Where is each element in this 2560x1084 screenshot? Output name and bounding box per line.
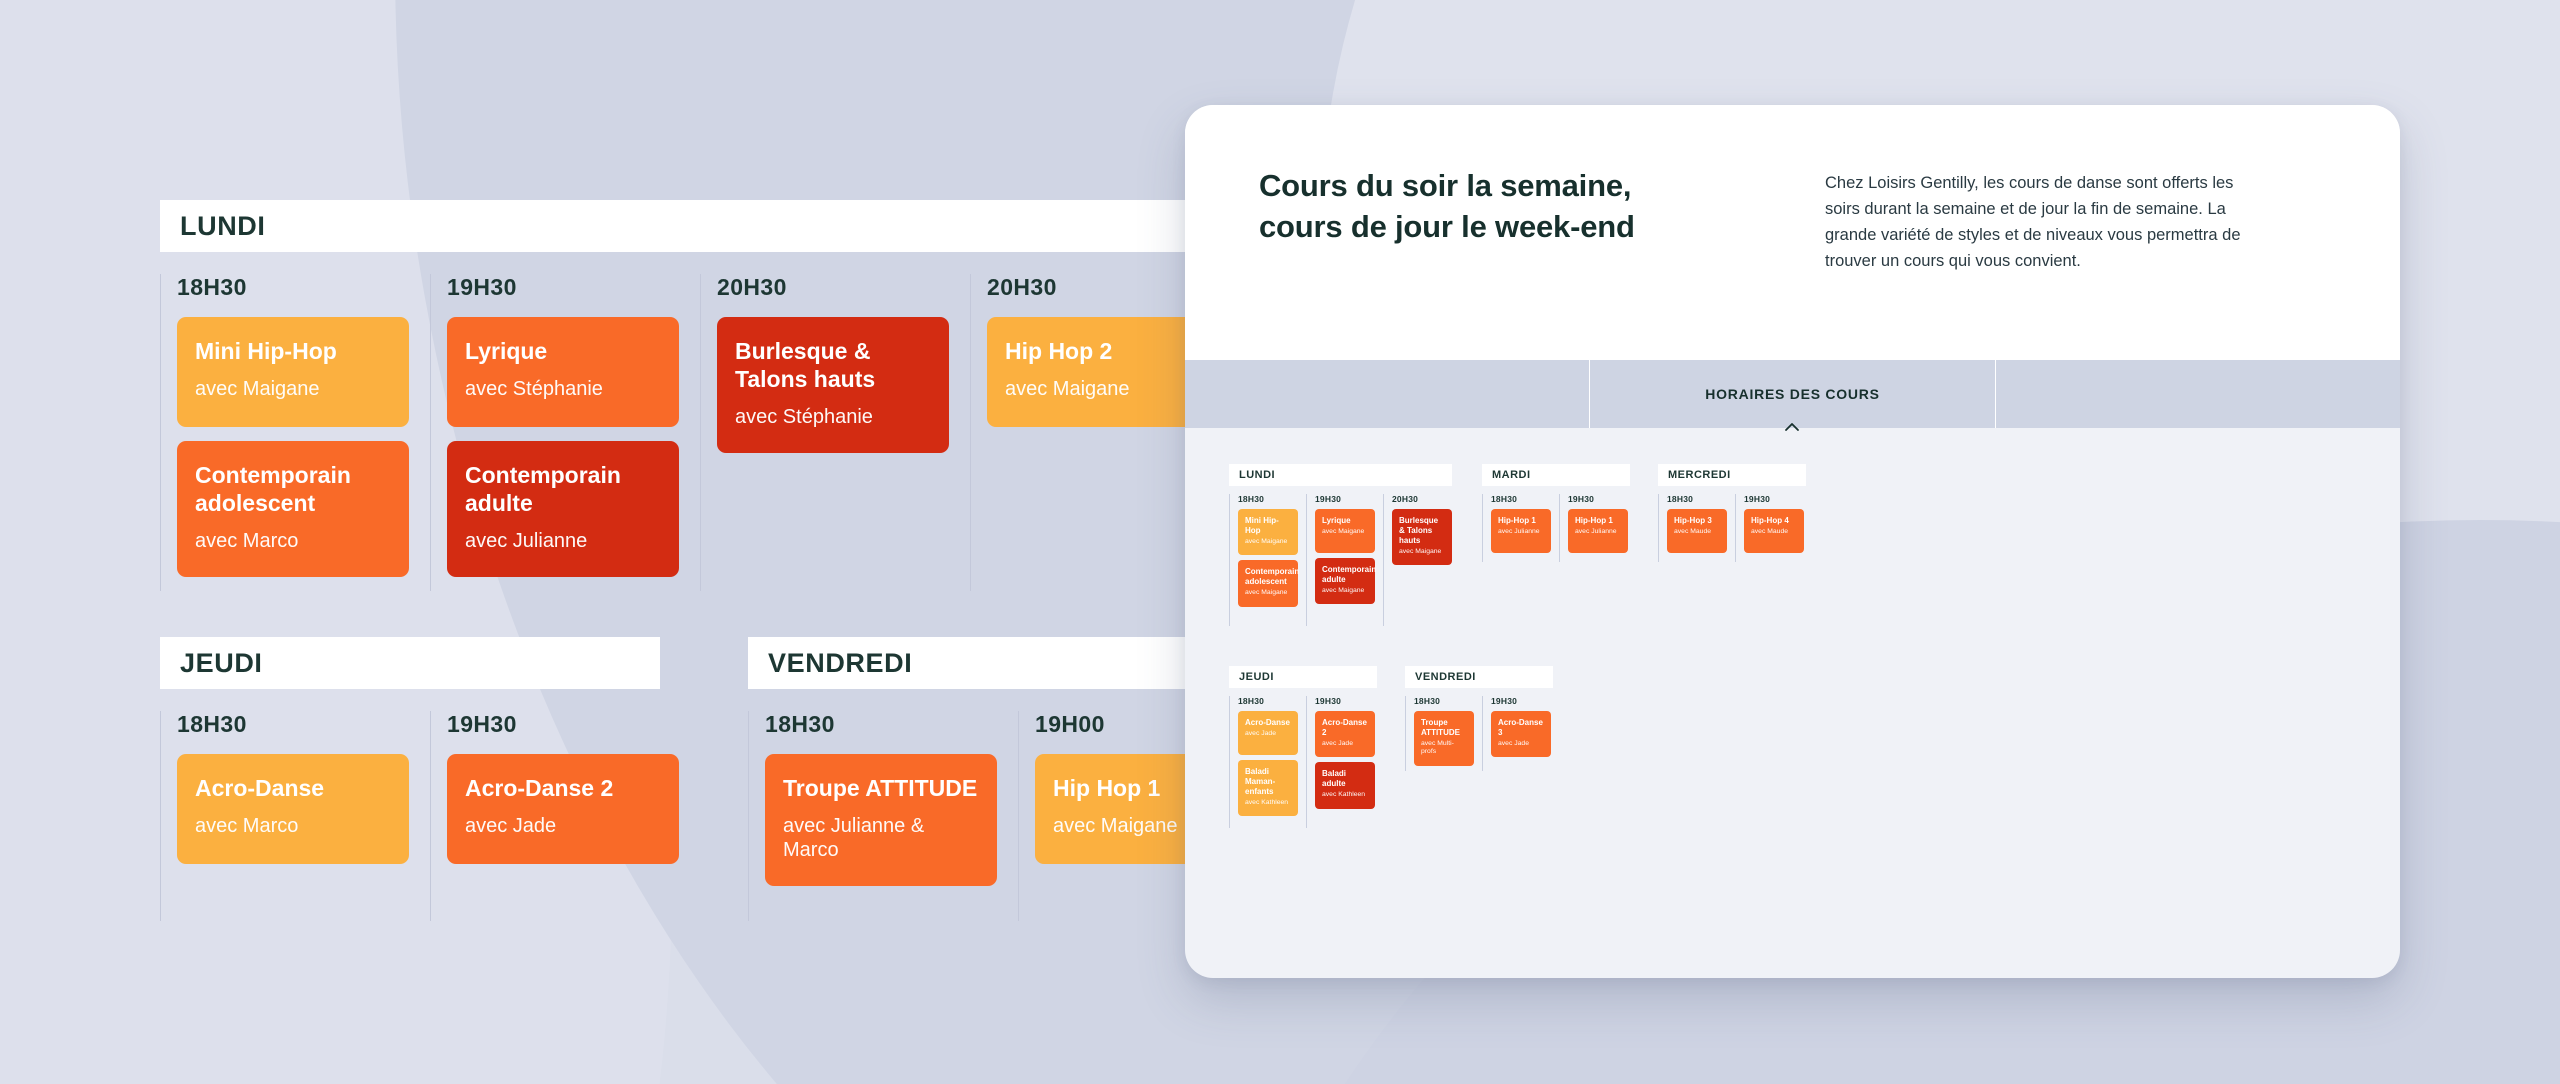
background-course-title: Lyrique <box>465 337 661 365</box>
panel-tabbar: HORAIRES DES COURS <box>1185 360 2400 428</box>
course-card[interactable]: Acro-Danseavec Jade <box>1238 711 1298 755</box>
time-label: 18H30 <box>1238 494 1297 504</box>
course-card[interactable]: Mini Hip-Hopavec Maigane <box>1238 509 1298 555</box>
background-course-title: Acro-Danse 2 <box>465 774 661 802</box>
background-time-column: 19H30Lyriqueavec StéphanieContemporain a… <box>430 274 700 591</box>
time-column: 20H30Burlesque & Talons hautsavec Maigan… <box>1383 494 1460 626</box>
background-course-title: Troupe ATTITUDE <box>783 774 979 802</box>
background-course-instructor: avec Marco <box>195 529 391 553</box>
panel-title: Cours du soir la semaine, cours de jour … <box>1259 165 1729 247</box>
background-course-title: Mini Hip-Hop <box>195 337 391 365</box>
background-time-column: 18H30Acro-Danseavec Marco <box>160 711 430 921</box>
panel-schedule-body: LUNDI18H30Mini Hip-Hopavec MaiganeContem… <box>1185 428 2400 828</box>
background-course-title: Acro-Danse <box>195 774 391 802</box>
time-column: 19H30Acro-Danse 2avec JadeBaladi adultea… <box>1306 696 1383 828</box>
time-label: 18H30 <box>1414 696 1473 706</box>
course-title: Troupe ATTITUDE <box>1421 718 1467 738</box>
course-card[interactable]: Contemporain adulteavec Maigane <box>1315 558 1375 604</box>
background-course-instructor: avec Stéphanie <box>735 405 931 429</box>
course-card[interactable]: Hip-Hop 4avec Maude <box>1744 509 1804 553</box>
course-instructor: avec Maude <box>1751 528 1797 536</box>
background-course-instructor: avec Stéphanie <box>465 377 661 401</box>
background-time-column: 19H30Acro-Danse 2avec Jade <box>430 711 700 921</box>
course-title: Lyrique <box>1322 516 1368 526</box>
background-time-label: 20H30 <box>717 274 950 301</box>
background-day-name: LUNDI <box>180 211 266 242</box>
background-time-label: 19H30 <box>447 711 680 738</box>
course-title: Contemporain adolescent <box>1245 567 1291 587</box>
panel-description: Chez Loisirs Gentilly, les cours de dans… <box>1825 171 2255 275</box>
course-schedule-panel: Cours du soir la semaine, cours de jour … <box>1185 105 2400 978</box>
course-title: Hip-Hop 1 <box>1575 516 1621 526</box>
time-label: 19H30 <box>1315 696 1374 706</box>
chevron-up-icon <box>1783 419 1801 437</box>
schedule-day-mercredi: MERCREDI18H30Hip-Hop 3avec Maude19H30Hip… <box>1658 464 1812 626</box>
background-time-column: 18H30Troupe ATTITUDEavec Julianne & Marc… <box>748 711 1018 921</box>
day-name: MERCREDI <box>1668 469 1731 481</box>
background-day-columns: 18H30Acro-Danseavec Marco19H30Acro-Danse… <box>160 711 700 921</box>
schedule-day-jeudi: JEUDI18H30Acro-Danseavec JadeBaladi Mama… <box>1229 666 1383 828</box>
time-column: 18H30Hip-Hop 3avec Maude <box>1658 494 1735 562</box>
background-course-card: Contemporain adulteavec Julianne <box>447 441 679 577</box>
course-title: Acro-Danse 2 <box>1322 718 1368 738</box>
tab-horaires-des-cours[interactable]: HORAIRES DES COURS <box>1590 360 1995 428</box>
day-columns: 18H30Mini Hip-Hopavec MaiganeContemporai… <box>1229 494 1460 626</box>
day-name: VENDREDI <box>1415 671 1476 683</box>
course-title: Baladi Maman-enfants <box>1245 767 1291 797</box>
day-header: JEUDI <box>1229 666 1377 688</box>
background-course-instructor: avec Julianne & Marco <box>783 814 979 862</box>
day-columns: 18H30Hip-Hop 3avec Maude19H30Hip-Hop 4av… <box>1658 494 1812 562</box>
background-course-instructor: avec Maigane <box>195 377 391 401</box>
course-instructor: avec Maude <box>1674 528 1720 536</box>
background-time-label: 18H30 <box>177 711 410 738</box>
time-column: 18H30Hip-Hop 1avec Julianne <box>1482 494 1559 562</box>
background-day-name: VENDREDI <box>768 648 912 679</box>
background-course-card: Acro-Danseavec Marco <box>177 754 409 864</box>
schedule-day-vendredi: VENDREDI18H30Troupe ATTITUDEavec Multi-p… <box>1405 666 1559 828</box>
time-label: 18H30 <box>1491 494 1550 504</box>
background-day-jeudi: JEUDI18H30Acro-Danseavec Marco19H30Acro-… <box>160 637 700 921</box>
tab-label: HORAIRES DES COURS <box>1705 386 1880 402</box>
course-instructor: avec Julianne <box>1575 528 1621 536</box>
day-columns: 18H30Troupe ATTITUDEavec Multi-profs19H3… <box>1405 696 1559 771</box>
course-title: Baladi adulte <box>1322 769 1368 789</box>
time-column: 18H30Acro-Danseavec JadeBaladi Maman-enf… <box>1229 696 1306 828</box>
time-column: 19H30Lyriqueavec MaiganeContemporain adu… <box>1306 494 1383 626</box>
time-column: 18H30Troupe ATTITUDEavec Multi-profs <box>1405 696 1482 771</box>
course-instructor: avec Kathleen <box>1322 791 1368 799</box>
background-course-card: Acro-Danse 2avec Jade <box>447 754 679 864</box>
tab-empty-0[interactable] <box>1185 360 1590 428</box>
schedule-day-lundi: LUNDI18H30Mini Hip-Hopavec MaiganeContem… <box>1229 464 1460 626</box>
day-name: LUNDI <box>1239 469 1275 481</box>
background-course-instructor: avec Marco <box>195 814 391 838</box>
background-time-label: 19H30 <box>447 274 680 301</box>
course-card[interactable]: Acro-Danse 2avec Jade <box>1315 711 1375 757</box>
course-title: Hip-Hop 4 <box>1751 516 1797 526</box>
day-name: JEUDI <box>1239 671 1274 683</box>
course-title: Burlesque & Talons hauts <box>1399 516 1445 546</box>
course-title: Acro-Danse <box>1245 718 1291 728</box>
course-instructor: avec Maigane <box>1399 548 1445 556</box>
background-time-column: 18H30Mini Hip-Hopavec MaiganeContemporai… <box>160 274 430 591</box>
course-card[interactable]: Hip-Hop 3avec Maude <box>1667 509 1727 553</box>
course-card[interactable]: Hip-Hop 1avec Julianne <box>1568 509 1628 553</box>
background-course-title: Contemporain adolescent <box>195 461 391 517</box>
time-label: 19H30 <box>1568 494 1627 504</box>
time-label: 18H30 <box>1238 696 1297 706</box>
day-header: LUNDI <box>1229 464 1452 486</box>
background-course-card: Troupe ATTITUDEavec Julianne & Marco <box>765 754 997 886</box>
course-card[interactable]: Lyriqueavec Maigane <box>1315 509 1375 553</box>
background-course-instructor: avec Jade <box>465 814 661 838</box>
course-card[interactable]: Baladi adulteavec Kathleen <box>1315 762 1375 808</box>
background-time-label: 18H30 <box>177 274 410 301</box>
course-instructor: avec Kathleen <box>1245 799 1291 807</box>
time-column: 19H30Hip-Hop 1avec Julianne <box>1559 494 1636 562</box>
course-title: Mini Hip-Hop <box>1245 516 1291 536</box>
time-label: 19H30 <box>1315 494 1374 504</box>
background-course-instructor: avec Julianne <box>465 529 661 553</box>
course-instructor: avec Jade <box>1245 730 1291 738</box>
time-label: 20H30 <box>1392 494 1451 504</box>
course-instructor: avec Maigane <box>1245 538 1291 546</box>
course-card[interactable]: Acro-Danse 3avec Jade <box>1491 711 1551 757</box>
course-title: Acro-Danse 3 <box>1498 718 1544 738</box>
time-column: 19H30Acro-Danse 3avec Jade <box>1482 696 1559 771</box>
course-title: Hip-Hop 3 <box>1674 516 1720 526</box>
course-card[interactable]: Contemporain adolescentavec Maigane <box>1238 560 1298 606</box>
time-column: 18H30Mini Hip-Hopavec MaiganeContemporai… <box>1229 494 1306 626</box>
background-course-title: Burlesque & Talons hauts <box>735 337 931 393</box>
screenshot-stage: LUNDI18H30Mini Hip-Hopavec MaiganeContem… <box>0 0 2560 1084</box>
background-course-title: Contemporain adulte <box>465 461 661 517</box>
day-name: MARDI <box>1492 469 1531 481</box>
time-column: 19H30Hip-Hop 4avec Maude <box>1735 494 1812 562</box>
day-columns: 18H30Acro-Danseavec JadeBaladi Maman-enf… <box>1229 696 1383 828</box>
schedule-row-group: LUNDI18H30Mini Hip-Hopavec MaiganeContem… <box>1229 464 2356 626</box>
course-instructor: avec Maigane <box>1322 587 1368 595</box>
day-columns: 18H30Hip-Hop 1avec Julianne19H30Hip-Hop … <box>1482 494 1636 562</box>
background-course-card: Burlesque & Talons hautsavec Stéphanie <box>717 317 949 453</box>
course-title: Contemporain adulte <box>1322 565 1368 585</box>
tab-empty-2[interactable] <box>1996 360 2400 428</box>
course-title: Hip-Hop 1 <box>1498 516 1544 526</box>
panel-title-line2: cours de jour le week-end <box>1259 206 1729 247</box>
course-card[interactable]: Baladi Maman-enfantsavec Kathleen <box>1238 760 1298 816</box>
course-card[interactable]: Burlesque & Talons hautsavec Maigane <box>1392 509 1452 565</box>
course-card[interactable]: Troupe ATTITUDEavec Multi-profs <box>1414 711 1474 766</box>
background-course-title: Hip Hop 2 <box>1005 337 1201 365</box>
panel-header: Cours du soir la semaine, cours de jour … <box>1185 105 2400 360</box>
panel-title-line1: Cours du soir la semaine, <box>1259 168 1631 203</box>
course-card[interactable]: Hip-Hop 1avec Julianne <box>1491 509 1551 553</box>
course-instructor: avec Multi-profs <box>1421 740 1467 757</box>
day-header: MERCREDI <box>1658 464 1806 486</box>
background-day-name: JEUDI <box>180 648 263 679</box>
day-header: MARDI <box>1482 464 1630 486</box>
course-instructor: avec Julianne <box>1498 528 1544 536</box>
time-label: 19H30 <box>1491 696 1550 706</box>
day-header: VENDREDI <box>1405 666 1553 688</box>
course-instructor: avec Maigane <box>1322 528 1368 536</box>
background-course-card: Contemporain adolescentavec Marco <box>177 441 409 577</box>
course-instructor: avec Jade <box>1498 740 1544 748</box>
course-instructor: avec Jade <box>1322 740 1368 748</box>
time-label: 18H30 <box>1667 494 1726 504</box>
schedule-day-mardi: MARDI18H30Hip-Hop 1avec Julianne19H30Hip… <box>1482 464 1636 626</box>
schedule-row-group: JEUDI18H30Acro-Danseavec JadeBaladi Mama… <box>1229 666 2356 828</box>
background-course-instructor: avec Maigane <box>1005 377 1201 401</box>
time-label: 19H30 <box>1744 494 1803 504</box>
background-course-card: Mini Hip-Hopavec Maigane <box>177 317 409 427</box>
background-time-label: 18H30 <box>765 711 998 738</box>
background-course-card: Lyriqueavec Stéphanie <box>447 317 679 427</box>
background-time-column: 20H30Burlesque & Talons hautsavec Stépha… <box>700 274 970 591</box>
background-day-header: JEUDI <box>160 637 660 689</box>
course-instructor: avec Maigane <box>1245 589 1291 597</box>
